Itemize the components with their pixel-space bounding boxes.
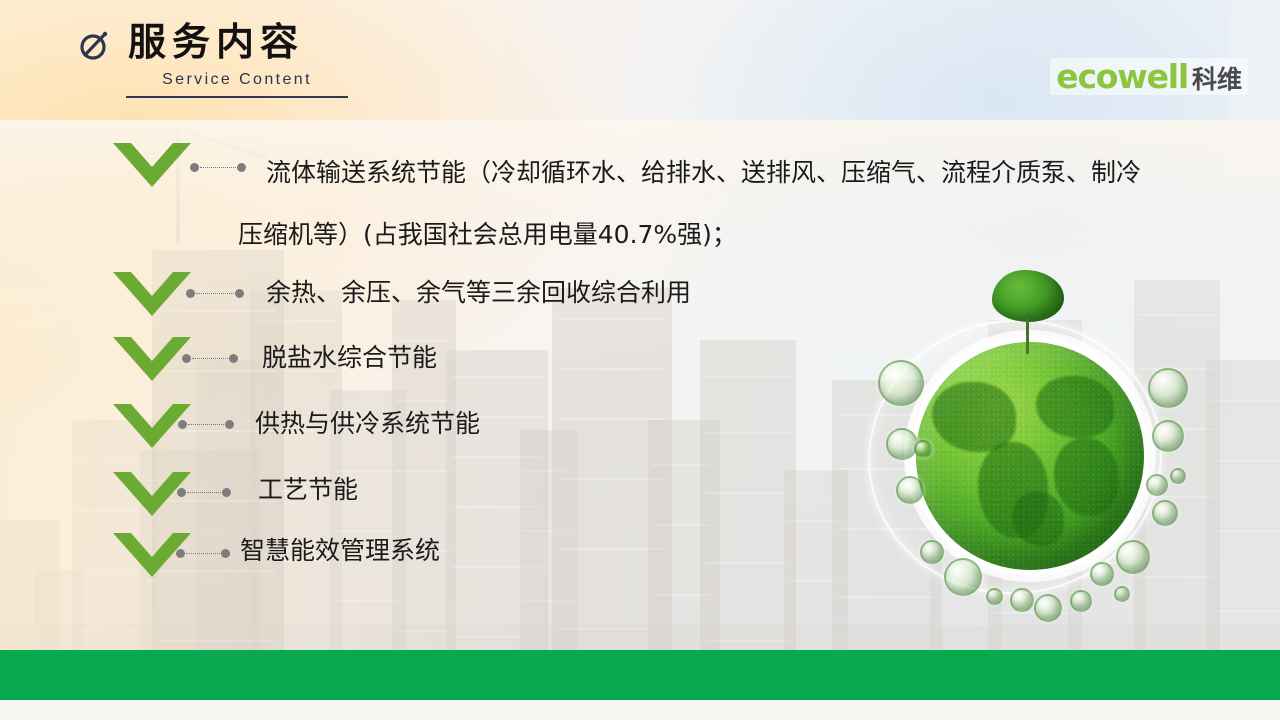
water-droplet-bubbles — [1090, 562, 1114, 586]
water-droplet-bubbles — [1070, 590, 1092, 612]
chevron-down-icon — [113, 143, 191, 199]
connector-line — [186, 288, 244, 298]
water-droplet-bubbles — [896, 476, 924, 504]
water-droplet-bubbles — [914, 440, 932, 458]
green-earth-globe — [862, 268, 1206, 634]
connector-line — [182, 353, 238, 363]
globe-sphere — [916, 342, 1144, 570]
tree-icon — [992, 270, 1064, 354]
chevron-down-icon — [113, 472, 191, 528]
water-droplet-bubbles — [1010, 588, 1034, 612]
chevron-down-icon — [113, 337, 191, 393]
connector-line — [176, 548, 230, 558]
water-droplet-bubbles — [1114, 586, 1130, 602]
list-item-label: 脱盐水综合节能 — [262, 329, 437, 387]
list-item-label: 智慧能效管理系统 — [240, 522, 440, 580]
water-droplet-bubbles — [1034, 594, 1062, 622]
list-item-label-line2: 压缩机等）(占我国社会总用电量40.7%强)； — [238, 222, 737, 247]
list-item-label: 工艺节能 — [258, 461, 358, 519]
water-droplet-bubbles — [1152, 420, 1184, 452]
footer-green-bar — [0, 650, 1280, 700]
connector-line — [178, 419, 234, 429]
water-droplet-bubbles — [1116, 540, 1150, 574]
water-droplet-bubbles — [944, 558, 982, 596]
chevron-down-icon — [113, 404, 191, 460]
list-item-label: 余热、余压、余气等三余回收综合利用 — [266, 264, 691, 322]
water-droplet-bubbles — [920, 540, 944, 564]
water-droplet-bubbles — [1146, 474, 1168, 496]
connector-line — [190, 162, 246, 172]
water-droplet-bubbles — [878, 360, 924, 406]
footer-white-strip — [0, 700, 1280, 720]
chevron-down-icon — [113, 533, 191, 589]
chevron-down-icon — [113, 272, 191, 328]
water-droplet-bubbles — [986, 588, 1003, 605]
list-item-label: 流体输送系统节能（冷却循环水、给排水、送排风、压缩气、流程介质泵、制冷 — [266, 144, 1141, 202]
connector-line — [177, 487, 231, 497]
water-droplet-bubbles — [1148, 368, 1188, 408]
water-droplet-bubbles — [886, 428, 918, 460]
water-droplet-bubbles — [1152, 500, 1178, 526]
water-droplet-bubbles — [1170, 468, 1186, 484]
list-item-label: 供热与供冷系统节能 — [255, 395, 480, 453]
slide: 服务内容 Service Content ecowell 科维 流体输送系统节能… — [0, 0, 1280, 720]
